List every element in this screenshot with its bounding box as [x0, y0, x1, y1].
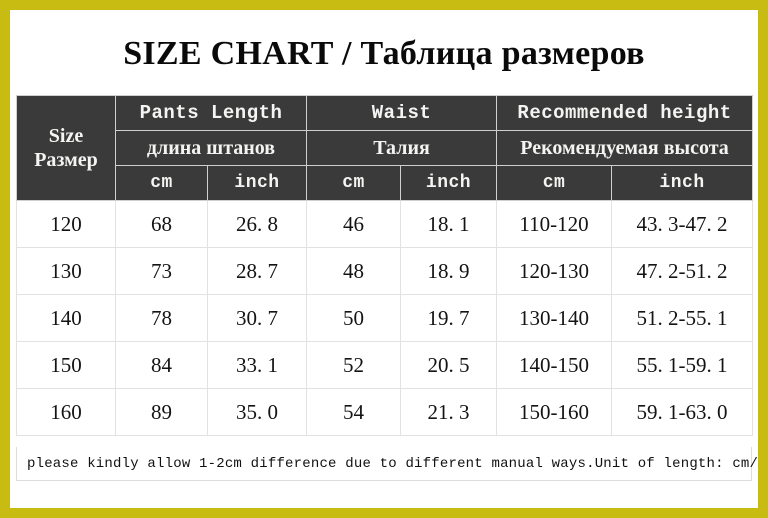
- cell-pants-length-inch: 26. 8: [208, 201, 307, 248]
- cell-waist-inch: 18. 1: [401, 201, 497, 248]
- header-unit-waist-cm: cm: [307, 166, 401, 201]
- cell-height-cm: 130-140: [497, 295, 612, 342]
- footer-note-text: please kindly allow 1-2cm difference due…: [27, 456, 595, 472]
- page-title: SIZE CHART / Таблица размеров: [10, 10, 758, 71]
- header-size-cell: Size Размер: [17, 96, 116, 201]
- table-row: 140 78 30. 7 50 19. 7 130-140 51. 2-55. …: [17, 295, 753, 342]
- cell-size: 160: [17, 389, 116, 436]
- cell-waist-cm: 46: [307, 201, 401, 248]
- cell-height-inch: 59. 1-63. 0: [612, 389, 753, 436]
- header-size-label-en: Size: [17, 124, 115, 148]
- header-unit-waist-inch: inch: [401, 166, 497, 201]
- cell-height-inch: 55. 1-59. 1: [612, 342, 753, 389]
- cell-pants-length-cm: 78: [116, 295, 208, 342]
- header-size-label-ru: Размер: [17, 148, 115, 172]
- cell-waist-cm: 52: [307, 342, 401, 389]
- cell-waist-inch: 18. 9: [401, 248, 497, 295]
- size-chart-table: Size Размер Pants Length Waist Recommend…: [16, 95, 753, 436]
- header-row-russian: длина штанов Талия Рекомендуемая высота: [17, 131, 753, 166]
- header-unit-height-cm: cm: [497, 166, 612, 201]
- cell-waist-inch: 21. 3: [401, 389, 497, 436]
- cell-pants-length-inch: 33. 1: [208, 342, 307, 389]
- header-group-waist-en: Waist: [307, 96, 497, 131]
- header-group-waist-ru: Талия: [307, 131, 497, 166]
- cell-pants-length-cm: 68: [116, 201, 208, 248]
- footer-unit-text: Unit of length: cm/inch: [595, 456, 758, 472]
- header-group-height-ru: Рекомендуемая высота: [497, 131, 753, 166]
- cell-size: 120: [17, 201, 116, 248]
- header-unit-pants-length-cm: cm: [116, 166, 208, 201]
- cell-height-inch: 43. 3-47. 2: [612, 201, 753, 248]
- cell-pants-length-inch: 30. 7: [208, 295, 307, 342]
- table-row: 120 68 26. 8 46 18. 1 110-120 43. 3-47. …: [17, 201, 753, 248]
- cell-size: 140: [17, 295, 116, 342]
- cell-height-inch: 51. 2-55. 1: [612, 295, 753, 342]
- header-group-pants-length-en: Pants Length: [116, 96, 307, 131]
- cell-waist-cm: 54: [307, 389, 401, 436]
- header-row-units: cm inch cm inch cm inch: [17, 166, 753, 201]
- cell-height-cm: 110-120: [497, 201, 612, 248]
- cell-pants-length-inch: 28. 7: [208, 248, 307, 295]
- cell-height-cm: 140-150: [497, 342, 612, 389]
- table-row: 150 84 33. 1 52 20. 5 140-150 55. 1-59. …: [17, 342, 753, 389]
- cell-pants-length-cm: 84: [116, 342, 208, 389]
- header-group-pants-length-ru: длина штанов: [116, 131, 307, 166]
- cell-waist-cm: 50: [307, 295, 401, 342]
- header-unit-height-inch: inch: [612, 166, 753, 201]
- chart-page: SIZE CHART / Таблица размеров Size Разме…: [10, 10, 758, 508]
- header-group-height-en: Recommended height: [497, 96, 753, 131]
- cell-size: 130: [17, 248, 116, 295]
- cell-pants-length-cm: 73: [116, 248, 208, 295]
- cell-height-cm: 150-160: [497, 389, 612, 436]
- footer-note: please kindly allow 1-2cm difference due…: [16, 447, 752, 481]
- header-unit-pants-length-inch: inch: [208, 166, 307, 201]
- cell-height-inch: 47. 2-51. 2: [612, 248, 753, 295]
- header-row-english: Size Размер Pants Length Waist Recommend…: [17, 96, 753, 131]
- table-row: 130 73 28. 7 48 18. 9 120-130 47. 2-51. …: [17, 248, 753, 295]
- cell-pants-length-cm: 89: [116, 389, 208, 436]
- cell-size: 150: [17, 342, 116, 389]
- table-row: 160 89 35. 0 54 21. 3 150-160 59. 1-63. …: [17, 389, 753, 436]
- cell-waist-cm: 48: [307, 248, 401, 295]
- cell-waist-inch: 20. 5: [401, 342, 497, 389]
- size-chart-table-container: Size Размер Pants Length Waist Recommend…: [16, 95, 752, 436]
- cell-height-cm: 120-130: [497, 248, 612, 295]
- cell-pants-length-inch: 35. 0: [208, 389, 307, 436]
- cell-waist-inch: 19. 7: [401, 295, 497, 342]
